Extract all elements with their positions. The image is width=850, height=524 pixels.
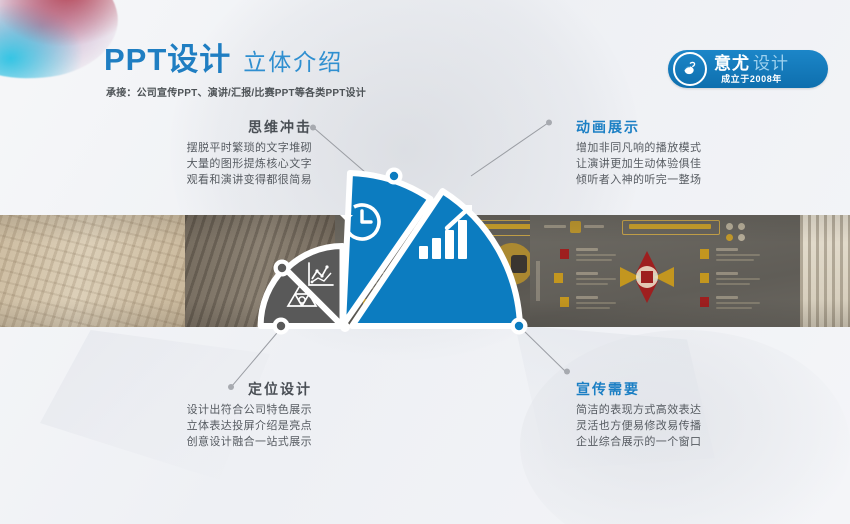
- callout-heading: 思维冲击: [82, 120, 312, 134]
- callout-line: 灵活也方便易修改易传播: [576, 418, 816, 434]
- callout-bottom-left: 定位设计 设计出符合公司特色展示 立体表达投屏介绍是亮点 创意设计融合一站式展示: [82, 382, 312, 450]
- callout-line: 观看和演讲变得都很简易: [82, 172, 312, 188]
- callout-line: 创意设计融合一站式展示: [82, 434, 312, 450]
- callout-heading: 动画展示: [576, 120, 816, 134]
- callout-line: 大量的图形提炼核心文字: [82, 156, 312, 172]
- callout-line: 立体表达投屏介绍是亮点: [82, 418, 312, 434]
- callout-top-right: 动画展示 增加非同凡响的播放模式 让演讲更加生动体验俱佳 倾听者入神的听完一整场: [576, 120, 816, 188]
- callout-bottom-right: 宣传需要 简洁的表现方式高效表达 灵活也方便易修改易传播 企业综合展示的一个窗口: [576, 382, 816, 450]
- callout-line: 企业综合展示的一个窗口: [576, 434, 816, 450]
- callout-line: 摆脱平时繁琐的文字堆砌: [82, 140, 312, 156]
- callout-line: 增加非同凡响的播放模式: [576, 140, 816, 156]
- poster-canvas: PPT设计 立体介绍 承接：公司宣传PPT、演讲/汇报/比赛PPT等各类PPT设…: [0, 0, 850, 524]
- callout-line: 设计出符合公司特色展示: [82, 402, 312, 418]
- callout-heading: 宣传需要: [576, 382, 816, 396]
- callout-line: 倾听者入神的听完一整场: [576, 172, 816, 188]
- callout-top-left: 思维冲击 摆脱平时繁琐的文字堆砌 大量的图形提炼核心文字 观看和演讲变得都很简易: [82, 120, 312, 188]
- callout-line: 让演讲更加生动体验俱佳: [576, 156, 816, 172]
- callout-line: 简洁的表现方式高效表达: [576, 402, 816, 418]
- callout-heading: 定位设计: [82, 382, 312, 396]
